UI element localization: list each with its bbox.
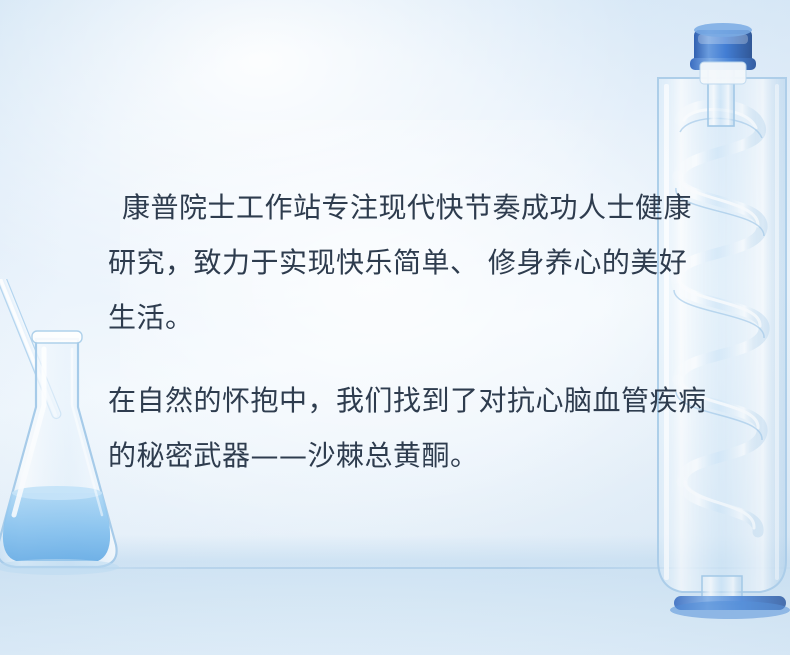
background-table-edge-line — [0, 567, 790, 569]
poster-paragraph-1: 康普院士工作站专注现代快节奏成功人士健康研究，致力于实现快乐简单、 修身养心的美… — [108, 180, 708, 345]
poster-paragraph-2: 在自然的怀抱中，我们找到了对抗心脑血管疾病的秘密武器——沙棘总黄酮。 — [108, 373, 708, 483]
background-table-surface — [0, 535, 790, 655]
poster-text-block: 康普院士工作站专注现代快节奏成功人士健康研究，致力于实现快乐简单、 修身养心的美… — [108, 152, 708, 511]
poster-image: 康普院士工作站专注现代快节奏成功人士健康研究，致力于实现快乐简单、 修身养心的美… — [0, 0, 790, 655]
